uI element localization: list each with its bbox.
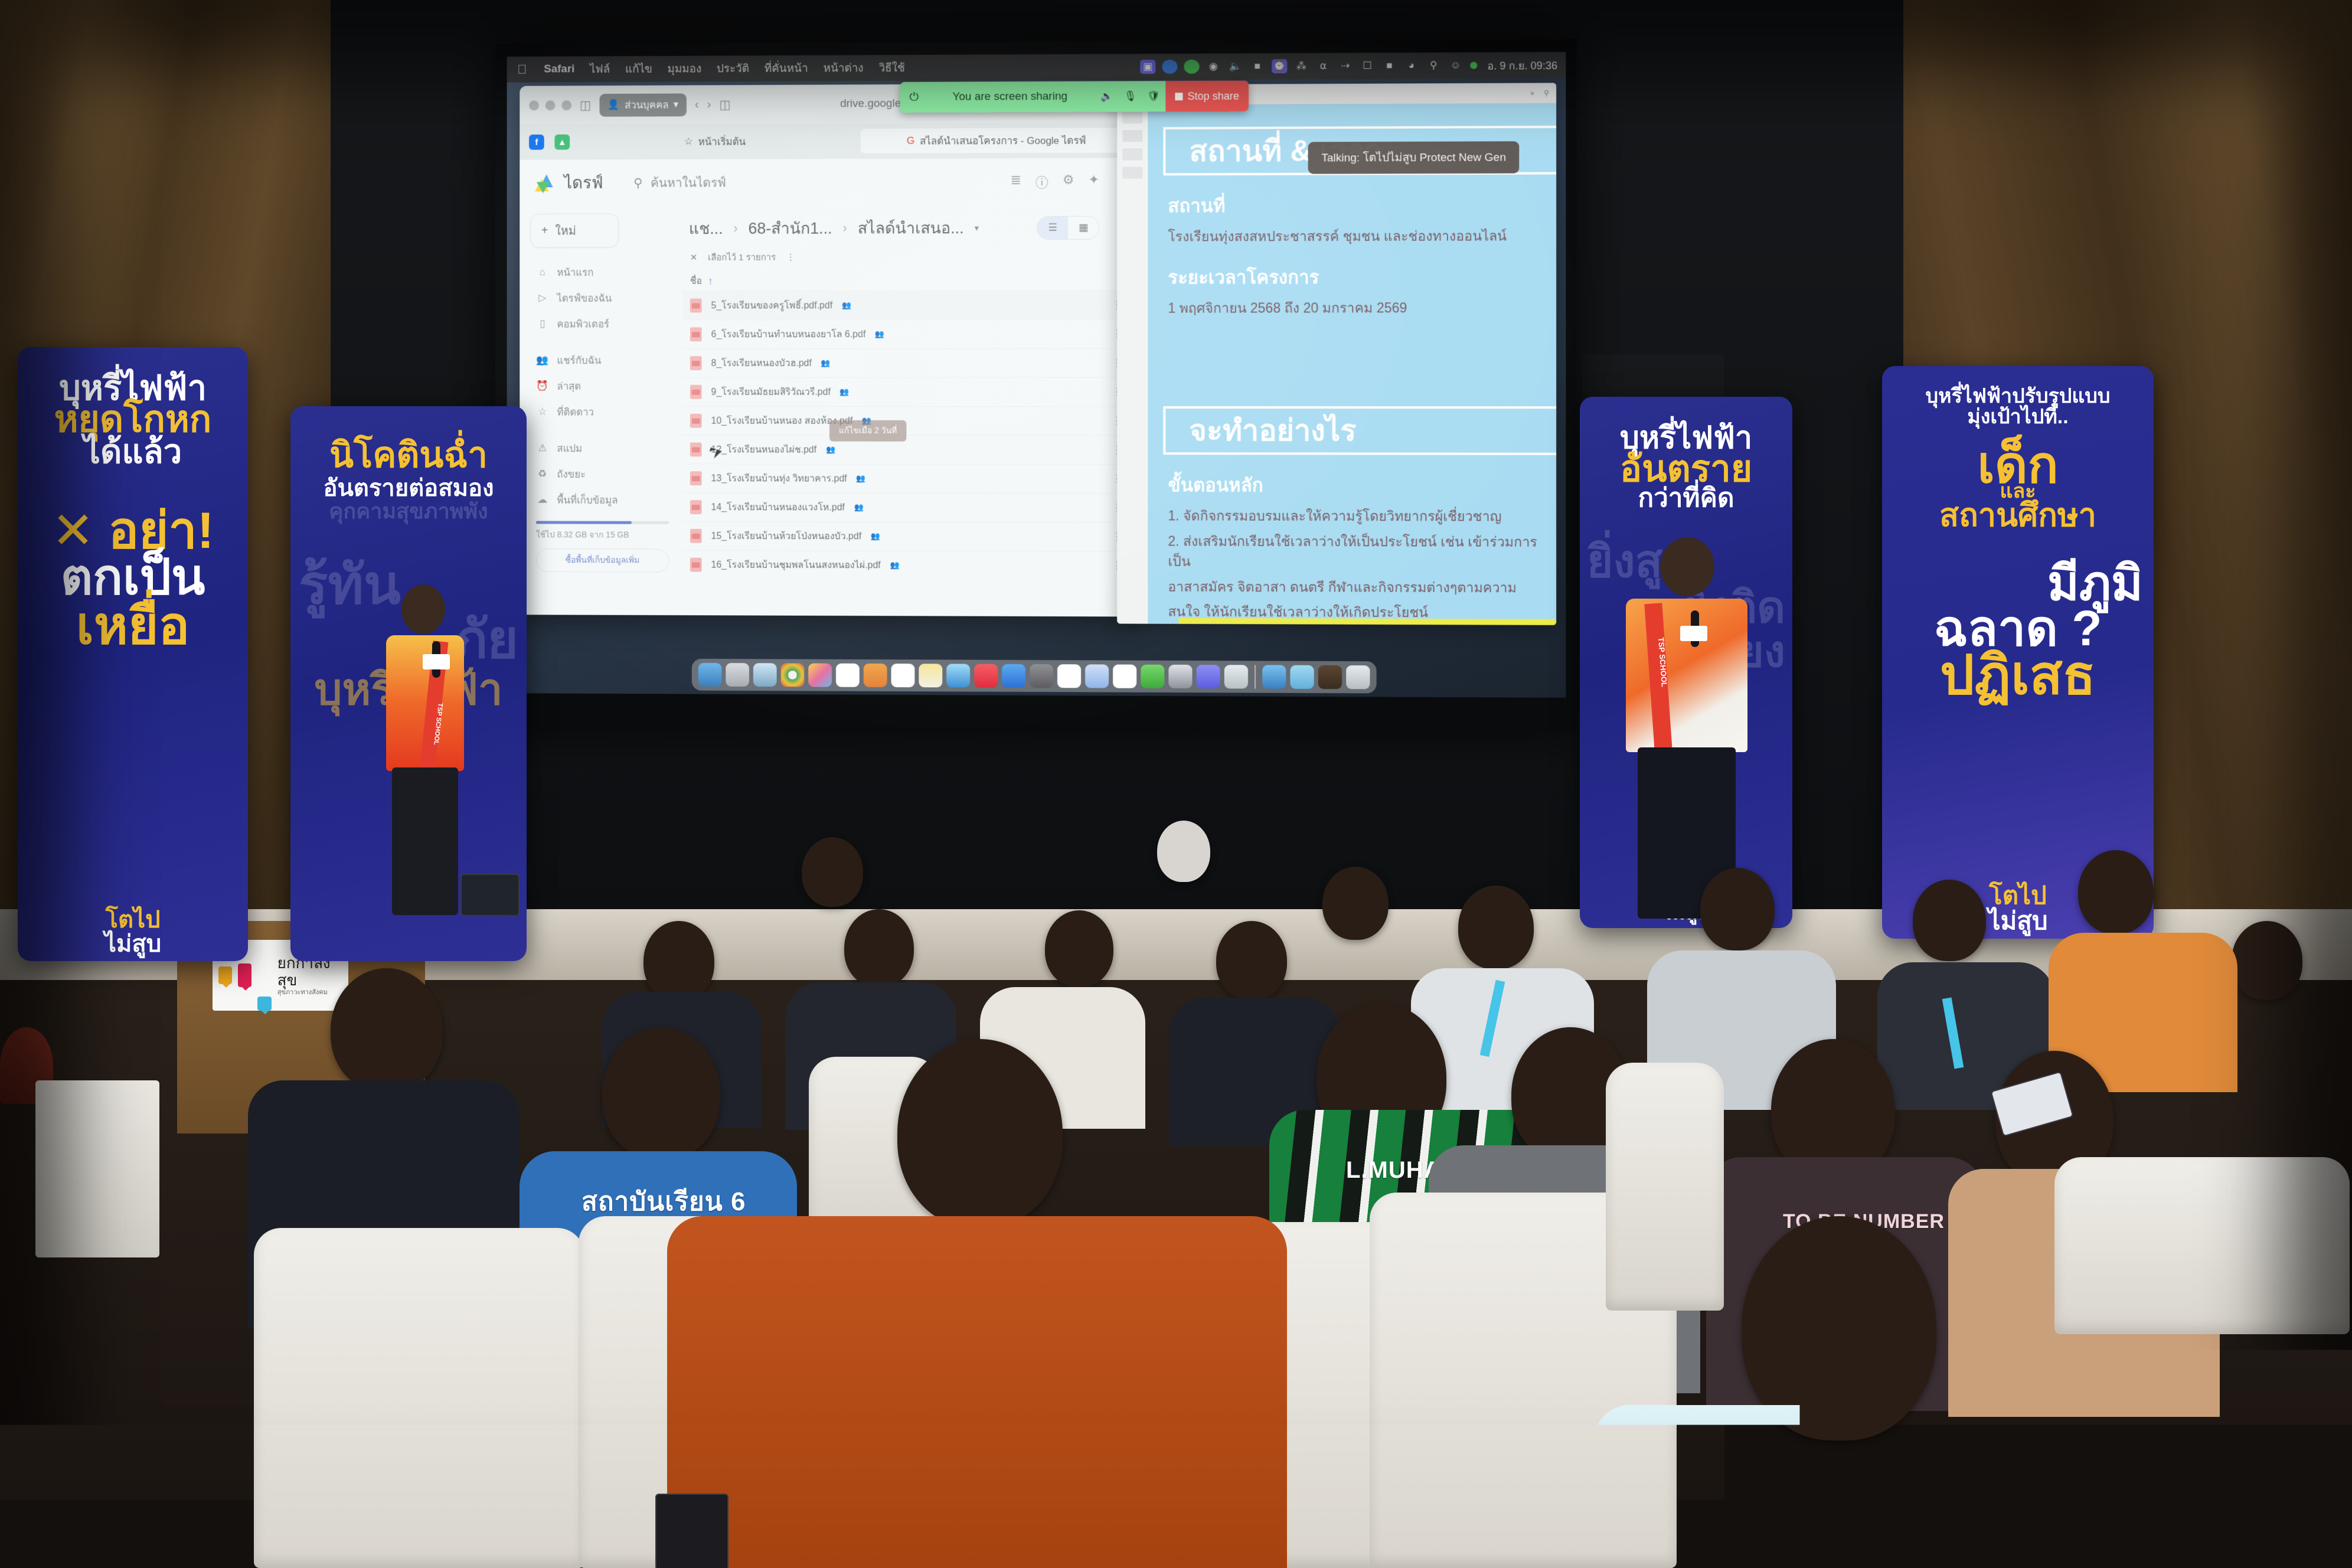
photos-icon[interactable] <box>808 664 832 687</box>
drive-search-input[interactable]: ⚲ ค้นหาในไดรฟ์ <box>616 172 938 192</box>
facebook-icon[interactable]: f <box>529 135 544 150</box>
person-icon: 👤 <box>607 99 620 111</box>
pdf-icon <box>690 356 702 370</box>
gear-icon[interactable]: ⚙ <box>1063 172 1074 191</box>
gemini-icon[interactable]: ✦ <box>1089 172 1099 191</box>
slide-thumbnail[interactable] <box>1122 112 1142 123</box>
appstore-icon[interactable] <box>1002 664 1025 688</box>
mac-menu-bar[interactable]:  Safari ไฟล์ แก้ไข มุมมอง ประวัติ ที่คั… <box>507 52 1566 83</box>
menu-safari[interactable]: Safari <box>536 63 582 76</box>
storage-bar <box>536 521 669 524</box>
table-row[interactable]: 6_โรงเรียนบ้านทำนบหนองยาโล 6.pdf👥⋮ <box>683 319 1130 348</box>
user-switch-icon[interactable]: ☺ <box>1448 58 1463 73</box>
sidebar-label-starred: ที่ติดดาว <box>557 404 594 420</box>
breadcrumb[interactable]: แช... › 68-สำนัก1... › สไลด์นำเสนอ... ▾ … <box>683 211 1130 243</box>
trash-icon[interactable] <box>1346 665 1370 689</box>
table-row[interactable]: 10_โรงเรียนบ้านหนอง สองห้อง.pdf👥⋮ <box>683 406 1130 435</box>
audience-head <box>331 968 443 1092</box>
home-icon: ⌂ <box>536 266 549 278</box>
slide-sub-3: ขั้นตอนหลัก <box>1168 470 1556 500</box>
star-icon: ☆ <box>684 136 693 148</box>
banner-4-line-8: ปฏิเสธ <box>1893 648 2143 704</box>
launchpad-icon[interactable] <box>726 663 749 687</box>
audience-head <box>2232 921 2302 1000</box>
profile-label: ส่วนบุคคล <box>625 97 669 113</box>
menu-edit[interactable]: แก้ไข <box>618 60 660 78</box>
chevron-down-icon[interactable]: ▾ <box>975 223 979 233</box>
sort-header[interactable]: ชื่อ ↑ <box>683 267 1130 291</box>
tab-overview-icon[interactable]: ◫ <box>719 97 731 112</box>
shared-icon: 👥 <box>854 503 864 512</box>
documents-icon[interactable] <box>1318 665 1342 689</box>
zoom-icon <box>561 100 571 110</box>
zoom-app-icon[interactable] <box>1197 665 1220 688</box>
drive-logo-icon <box>535 173 557 193</box>
audience-head <box>2078 850 2154 934</box>
audience-head <box>1216 921 1287 1000</box>
drive-main-panel: แช... › 68-สำนัก1... › สไลด์นำเสนอ... ▾ … <box>675 205 1142 617</box>
banner-3-line-3: กว่าที่คิด <box>1587 485 1785 512</box>
slide-viewport: สถานที่ & เวลา สถานที่ โรงเรียนทุ่งสงสหป… <box>1148 103 1556 625</box>
sidebar-item-spam[interactable]: ⚠สแปม <box>530 435 675 461</box>
selection-toolbar[interactable]: ✕ เลือกไว้ 1 รายการ ⋮ <box>683 241 1130 268</box>
banner-3-line-2: อันตราย <box>1587 450 1785 488</box>
pdf-icon <box>690 500 702 514</box>
audience-head <box>844 909 914 987</box>
shared-icon: 👥 <box>871 531 880 541</box>
plus-icon: + <box>541 224 548 237</box>
audience-head <box>643 921 714 1001</box>
search-icon: ⚲ <box>633 175 642 190</box>
calendar-icon[interactable] <box>836 664 860 687</box>
table-row[interactable]: 13_โรงเรียนบ้านทุ่ง วิทยาคาร.pdf👥⋮ <box>683 463 1130 493</box>
tab-label-slide: สไลด์นำเสนอโครงการ - Google ไดรฟ์ <box>920 132 1086 149</box>
presenter-left-pants <box>392 767 458 915</box>
banner-1-line-5: ตกเป็น <box>28 552 237 603</box>
computer-icon: ▯ <box>536 318 549 330</box>
chevron-right-icon: › <box>733 221 737 236</box>
wifi-icon[interactable]: ◕ <box>1404 58 1419 73</box>
safari-tab-bar[interactable]: f ▲ ☆ หน้าเริ่มต้น G สไลด์นำเสนอโครงการ … <box>520 122 1142 159</box>
slide-step-1: 1. จัดกิจกรรมอบรมและให้ความรู้โดยวิทยากร… <box>1168 505 1556 527</box>
talking-tooltip: Talking: โตไปไม่สูบ Protect New Gen <box>1308 141 1519 174</box>
safari-profile-button[interactable]: 👤 ส่วนบุคคล ▾ <box>599 93 687 116</box>
sidebar-label-trash: ถังขยะ <box>557 466 586 482</box>
audience-head-hijab <box>1157 821 1210 882</box>
slide-heading-2: จะทำอย่างไร <box>1190 407 1357 454</box>
table-row[interactable]: 8_โรงเรียนหนองบัวฮ.pdf👥⋮ <box>683 348 1130 377</box>
presenter-right-mic-flag <box>1680 626 1707 641</box>
pdf-icon <box>690 471 702 485</box>
side-table <box>35 1080 159 1257</box>
presenter-left-head <box>401 584 445 634</box>
presenter-right-head <box>1660 537 1714 596</box>
phone-foreground[interactable] <box>655 1494 729 1568</box>
file-name: 9_โรงเรียนมัธยมสิริวัณวรี.pdf <box>711 385 831 400</box>
audience-head <box>1913 880 1986 961</box>
search-icon[interactable]: ⚲ <box>1426 58 1441 73</box>
sidebar-item-recent[interactable]: ⏰ล่าสุด <box>530 373 675 399</box>
meet-icon[interactable] <box>1162 60 1177 74</box>
shared-icon: 👥 <box>890 560 899 570</box>
banner-2-line-2: อันตรายต่อสมอง <box>299 476 518 501</box>
sidebar-item-storage[interactable]: ☁พื้นที่เก็บข้อมูล <box>530 487 675 513</box>
hover-tooltip: แก้ไขเมื่อ 2 วันที่ <box>829 420 906 442</box>
audience-head <box>802 837 863 907</box>
stop-share-label: Stop share <box>1187 90 1239 102</box>
sort-ascending-icon[interactable]: ↑ <box>708 275 713 287</box>
banner-4-line-2: มุ่งเป้าไปที่.. <box>1893 407 2143 427</box>
pdf-icon <box>690 558 702 572</box>
banner-1-logo-top: โตไป <box>104 908 161 932</box>
pages-icon[interactable] <box>1113 665 1136 688</box>
slide-sub-2: ระยะเวลาโครงการ <box>1168 262 1556 292</box>
drive-sidebar[interactable]: + ใหม่ ⌂หน้าแรก ▷ไดรฟ์ของฉัน ▯คอมพิวเตอร… <box>520 206 675 615</box>
word-icon[interactable] <box>1085 664 1109 688</box>
file-name: 16_โรงเรียนบ้านชุมพลโนนสงหนองไผ่.pdf <box>711 557 881 573</box>
preview-icon[interactable] <box>1168 665 1192 688</box>
presenter-left: TSP SCHOOL <box>375 584 476 915</box>
mic-icon[interactable]: 🔈 <box>1096 90 1119 102</box>
buy-storage-label: ซื้อพื้นที่เก็บข้อมูลเพิ่ม <box>566 554 640 567</box>
list-view-icon[interactable]: ☰ <box>1037 216 1068 239</box>
pdf-icon <box>690 414 702 428</box>
new-button-label: ใหม่ <box>555 221 576 240</box>
menu-history[interactable]: ประวัติ <box>709 60 757 77</box>
slide-line-1: โรงเรียนทุ่งสงสหประชาสรรค์ ชุมชน และช่อง… <box>1168 226 1556 247</box>
sort-column-label[interactable]: ชื่อ <box>690 274 702 289</box>
file-name: 6_โรงเรียนบ้านทำนบหนองยาโล 6.pdf <box>711 327 866 342</box>
tab-slide-presentation[interactable]: G สไลด์นำเสนอโครงการ - Google ไดรฟ์ <box>861 128 1132 153</box>
pdf-icon <box>690 529 702 543</box>
sidebar-item-computers[interactable]: ▯คอมพิวเตอร์ <box>530 311 675 337</box>
buy-storage-button[interactable]: ซื้อพื้นที่เก็บข้อมูลเพิ่ม <box>536 548 669 572</box>
status-dot-icon[interactable] <box>1184 60 1199 74</box>
star-icon: ☆ <box>536 406 549 418</box>
google-icon: G <box>907 135 914 147</box>
pdf-icon <box>690 385 702 399</box>
drive-header-icons[interactable]: ≣ ⓘ ⚙ ✦ ⋮ <box>1010 172 1126 192</box>
back-icon[interactable]: ‹ <box>695 97 699 112</box>
chevron-down-icon: ▾ <box>674 99 678 110</box>
screen-share-bar[interactable]: ⏻ You are screen sharing 🔈 🎙 🛡 Stop shar… <box>900 80 1249 112</box>
mac-dock[interactable] <box>692 659 1377 694</box>
display-icon[interactable]: ☐ <box>1360 58 1375 73</box>
file-name: 12_โรงเรียนหนองไผ่ช.pdf <box>711 442 817 457</box>
sidebar-item-starred[interactable]: ☆ที่ติดดาว <box>530 399 675 425</box>
shared-icon: 👥 <box>840 387 850 397</box>
slide-pane-how: จะทำอย่างไร ขั้นตอนหลัก 1. จัดกิจกรรมอบร… <box>1148 388 1556 625</box>
banner-4-line-1: บุหรี่ไฟฟ้าปรับรูปแบบ <box>1893 386 2143 407</box>
spam-icon: ⚠ <box>536 442 549 454</box>
slide-heading-chevron-2: จะทำอย่างไร <box>1163 406 1556 455</box>
grid-view-icon[interactable]: ▦ <box>1068 216 1099 239</box>
drive-logo[interactable]: ไดรฟ์ <box>535 170 603 196</box>
banner-2-line-3: คุกคามสุขภาพพัง <box>299 501 518 522</box>
storage-meter: ใช้ไป 8.32 GB จาก 15 GB ซื้อพื้นที่เก็บข… <box>536 521 669 572</box>
sidebar-label-shared: แชร์กับฉัน <box>557 352 601 368</box>
volume-icon[interactable]: 🔈 <box>1227 59 1243 73</box>
audience-head <box>1322 867 1389 940</box>
battery-icon[interactable]: ■ <box>1250 59 1265 73</box>
sidebar-label-my-drive: ไดรฟ์ของฉัน <box>557 290 612 306</box>
stop-square-icon <box>1175 92 1182 100</box>
storage-text: ใช้ไป 8.32 GB จาก 15 GB <box>536 530 629 539</box>
banner-2-line-1: นิโคตินฉ่ำ <box>299 437 518 473</box>
slides-canvas: สถานที่ & เวลา สถานที่ โรงเรียนทุ่งสงสหป… <box>1117 103 1556 625</box>
slide-step-2: 2. ส่งเสริมนักเรียนใช้เวลาว่างให้เป็นประ… <box>1168 531 1556 573</box>
clock-icon: ⏰ <box>536 380 549 392</box>
slide-filmstrip[interactable] <box>1117 104 1148 623</box>
breadcrumb-item-1[interactable]: 68-สำนัก1... <box>749 215 832 241</box>
shared-icon: 👥 <box>821 358 831 368</box>
shared-icon: 👥 <box>842 300 851 310</box>
presenter-right-shirt <box>1626 599 1747 752</box>
file-name: 8_โรงเรียนหนองบัวฮ.pdf <box>711 356 812 371</box>
safari-icon[interactable] <box>753 663 777 687</box>
table-row[interactable]: 16_โรงเรียนบ้านชุมพลโนนสงหนองไผ่.pdf👥⋮ <box>683 550 1130 580</box>
share-status-text: You are screen sharing <box>925 90 1096 104</box>
downloads-icon[interactable] <box>1290 665 1314 689</box>
pdf-icon <box>690 443 702 457</box>
line-icon[interactable] <box>1141 665 1164 688</box>
drive-icon[interactable]: ▲ <box>554 135 570 150</box>
close-icon <box>529 100 539 110</box>
file-name: 15_โรงเรียนบ้านห้วยโป่งหนองบัว.pdf <box>711 528 862 543</box>
projected-desktop:  Safari ไฟล์ แก้ไข มุมมอง ประวัติ ที่คั… <box>507 52 1566 698</box>
banner-4-logo-top: โตไป <box>1988 883 2047 909</box>
drive-icon: ▷ <box>536 292 549 304</box>
freeform-icon[interactable] <box>946 664 970 687</box>
banner-4-logo-bottom: ไม่สูบ <box>1988 909 2047 934</box>
stop-icon[interactable]: ■ <box>1381 58 1397 73</box>
menu-help[interactable]: วิธีใช้ <box>871 59 913 77</box>
filter-icon[interactable]: ≣ <box>1010 172 1021 191</box>
notes-list-icon[interactable] <box>891 664 915 687</box>
audience-head <box>602 1027 720 1160</box>
meet-logo-icon: ⏻ <box>900 90 925 104</box>
podium-subtitle: สุขภาวะทางสังคม <box>277 989 342 996</box>
sidebar-label-home: หน้าแรก <box>557 264 593 280</box>
sidebar-item-my-drive[interactable]: ▷ไดรฟ์ของฉัน <box>530 285 675 311</box>
slide-step-3: อาสาสมัคร จิตอาสา ดนตรี กีฬาและกิจกรรมต่… <box>1168 576 1556 597</box>
sidebar-label-recent: ล่าสุด <box>557 378 581 394</box>
files-icon[interactable] <box>1224 665 1248 688</box>
maps-icon[interactable] <box>1262 665 1286 688</box>
pdf-icon <box>690 327 702 341</box>
clear-selection-icon[interactable]: ✕ <box>690 252 697 263</box>
drive-body: + ใหม่ ⌂หน้าแรก ▷ไดรฟ์ของฉัน ▯คอมพิวเตอร… <box>520 205 1142 617</box>
table-row[interactable]: 9_โรงเรียนมัธยมสิริวัณวรี.pdf👥⋮ <box>683 377 1130 406</box>
bluetooth-icon[interactable]: ⇢ <box>1338 59 1353 73</box>
slide-sub-1: สถานที่ <box>1168 190 1556 221</box>
sidebar-label-spam: สแปม <box>557 440 582 456</box>
drive-new-button[interactable]: + ใหม่ <box>530 214 619 248</box>
drive-header: ไดรฟ์ ⚲ ค้นหาในไดรฟ์ ≣ ⓘ ⚙ ✦ ⋮ <box>520 158 1142 207</box>
menu-bar-status-area[interactable]: ▣ ◉ 🔈 ■ ⌚ ⁂ ⍺ ⇢ ☐ ■ ◕ ⚲ ☺ อ. 9 ก.ย. <box>1140 56 1566 75</box>
minimize-icon <box>545 100 556 110</box>
presenter-right-sash-text: TSP SCHOOL <box>1648 637 1669 688</box>
presenter-left-mic-flag <box>423 654 450 669</box>
shared-icon: 👥 <box>857 474 866 484</box>
banner-1-logo: โตไป ไม่สูบ <box>104 908 161 956</box>
more-actions-icon[interactable]: ⋮ <box>786 252 795 263</box>
chair <box>1606 1063 1724 1311</box>
google-drive-app[interactable]: ไดรฟ์ ⚲ ค้นหาในไดรฟ์ ≣ ⓘ ⚙ ✦ ⋮ <box>520 158 1142 616</box>
file-name: 14_โรงเรียนบ้านหนองแวงโห.pdf <box>711 500 845 515</box>
menu-view[interactable]: มุมมอง <box>660 60 709 77</box>
file-name: 13_โรงเรียนบ้านทุ่ง วิทยาคาร.pdf <box>711 471 847 486</box>
projection-screen:  Safari ไฟล์ แก้ไข มุมมอง ประวัติ ที่คั… <box>495 39 1577 731</box>
music-icon[interactable] <box>974 664 998 688</box>
menu-file[interactable]: ไฟล์ <box>582 60 618 78</box>
safari-window[interactable]: ◫ 👤 ส่วนบุคคล ▾ ‹ › ◫ drive.google.com 🛡… <box>520 83 1142 616</box>
trash-icon: ♻ <box>536 468 549 480</box>
shirt-text-thai-school: โรงเรียนบ้านตันยงโพธิ์ <box>1759 1470 2001 1508</box>
apple-logo-icon[interactable]:  <box>507 62 537 77</box>
finder-icon[interactable] <box>698 663 722 687</box>
breadcrumb-item-2[interactable]: สไลด์นำเสนอ... <box>858 215 964 240</box>
people-icon: 👥 <box>536 354 549 366</box>
shared-icon: 👥 <box>826 445 835 455</box>
sidebar-label-computers: คอมพิวเตอร์ <box>557 316 609 332</box>
dock-divider <box>1255 665 1256 688</box>
keynote-icon[interactable] <box>1057 664 1081 688</box>
table-row[interactable]: 15_โรงเรียนบ้านห้วยโป่งหนองบัว.pdf👥⋮ <box>683 521 1130 551</box>
camera-device[interactable] <box>460 874 520 916</box>
shared-icon: 👥 <box>875 329 884 339</box>
audience-head <box>1700 868 1775 950</box>
stickies-icon[interactable] <box>919 664 942 687</box>
presenter-right: TSP SCHOOL <box>1618 537 1759 915</box>
foreground-head <box>897 1039 1063 1228</box>
recording-dot-icon <box>1470 62 1477 69</box>
headphones-icon[interactable]: ⍺ <box>1315 59 1331 73</box>
foreground-torso-orange <box>667 1216 1287 1568</box>
table-row[interactable]: 12_โรงเรียนหนองไผ่ช.pdf👥⋮ <box>683 435 1130 465</box>
file-list[interactable]: 5_โรงเรียนของครูโพธิ์.pdf.pdf👥⋮ 6_โรงเรี… <box>683 290 1130 580</box>
camera-icon[interactable]: 🎙 <box>1119 90 1142 102</box>
breadcrumb-item-0[interactable]: แช... <box>689 215 723 241</box>
table-row[interactable]: 14_โรงเรียนบ้านหนองแวงโห.pdf👥⋮ <box>683 492 1130 522</box>
view-toggle[interactable]: ☰ ▦ <box>1037 215 1099 239</box>
search-placeholder: ค้นหาในไดรฟ์ <box>651 173 726 192</box>
slide-thumbnail[interactable] <box>1122 166 1142 178</box>
forward-icon[interactable]: › <box>707 97 711 112</box>
photo-scene:  Safari ไฟล์ แก้ไข มุมมอง ประวัติ ที่คั… <box>0 0 2352 1568</box>
shield-icon[interactable]: 🛡 <box>1142 90 1166 102</box>
drive-app-name: ไดรฟ์ <box>564 170 603 196</box>
cloud-icon: ☁ <box>536 494 549 506</box>
control-center-icon[interactable]: ⌚ <box>1272 59 1287 73</box>
banner-1-line-6: เหยื่อ <box>28 599 237 652</box>
slide-bottom-accent <box>1178 618 1556 625</box>
smiley-orange-icon <box>218 966 232 984</box>
sidebar-item-shared[interactable]: 👥แชร์กับฉัน <box>530 347 675 373</box>
sidebar-label-storage: พื้นที่เก็บข้อมูล <box>557 492 618 508</box>
file-name: 5_โรงเรียนของครูโพธิ์.pdf.pdf <box>711 298 833 313</box>
help-icon[interactable]: ⓘ <box>1035 172 1048 191</box>
record-icon[interactable]: ◉ <box>1206 60 1221 74</box>
smiley-red-icon <box>238 963 251 987</box>
audience-head <box>1045 910 1113 987</box>
slide-thumbnail[interactable] <box>1122 148 1142 160</box>
banner-4-line-5: สถานศึกษา <box>1893 499 2143 532</box>
window-controls[interactable] <box>529 100 571 110</box>
menu-bar-clock[interactable]: อ. 9 ก.ย. 09:36 <box>1484 57 1557 74</box>
screen-record-icon[interactable]: ▣ <box>1140 60 1155 74</box>
banner-4-logo: โตไป ไม่สูบ <box>1988 883 2047 934</box>
tab-label-start: หน้าเริ่มต้น <box>698 133 746 149</box>
smiley-blue-icon <box>257 997 271 1011</box>
siri-icon[interactable]: ⁂ <box>1293 59 1309 73</box>
settings-icon[interactable] <box>1030 664 1053 688</box>
menu-bookmarks[interactable]: ที่คั่นหน้า <box>757 60 816 77</box>
sidebar-item-trash[interactable]: ♻ถังขยะ <box>530 461 675 487</box>
sidebar-toggle-icon[interactable]: ◫ <box>580 97 592 112</box>
chevron-right-icon-2: › <box>842 220 847 236</box>
banner-1: บุหรี่ไฟฟ้า หยุดโกหก ได้แล้ว ✕ อย่า! ตกเ… <box>18 347 248 961</box>
search-icon[interactable]: ⚲ <box>1544 89 1549 97</box>
show-tabs-icon[interactable]: » <box>1530 89 1534 97</box>
table-row[interactable]: 5_โรงเรียนของครูโพธิ์.pdf.pdf👥⋮ <box>683 290 1130 320</box>
reminders-icon[interactable] <box>864 664 887 687</box>
sidebar-item-home[interactable]: ⌂หน้าแรก <box>530 259 675 285</box>
slide-thumbnail[interactable] <box>1122 130 1142 142</box>
pdf-icon <box>690 299 702 313</box>
chair <box>2054 1157 2350 1334</box>
banner-1-logo-bottom: ไม่สูบ <box>104 932 161 956</box>
menu-window[interactable]: หน้าต่าง <box>816 59 871 77</box>
chrome-icon[interactable] <box>781 663 805 687</box>
slide-line-2: 1 พฤศจิกายน 2568 ถึง 20 มกราคม 2569 <box>1168 297 1556 318</box>
chair <box>254 1228 584 1568</box>
shirt-text-en-school: BANTANYONGPHO SCHOOL <box>1759 1509 2064 1534</box>
selection-count: เลือกไว้ 1 รายการ <box>708 250 776 264</box>
tab-start-page[interactable]: ☆ หน้าเริ่มต้น <box>580 129 850 154</box>
stop-share-button[interactable]: Stop share <box>1165 80 1249 112</box>
audience-head <box>1458 886 1534 969</box>
